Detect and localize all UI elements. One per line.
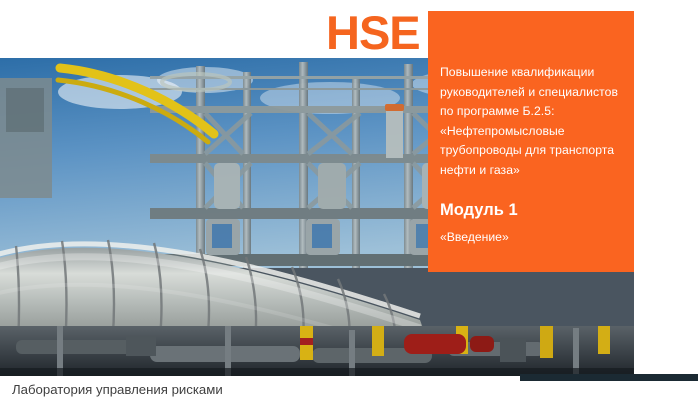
footer-rule <box>520 374 698 381</box>
course-title: Повышение квалификации руководителей и с… <box>440 63 620 180</box>
module-title: Модуль 1 <box>440 200 620 220</box>
presentation-slide: HSE Повышение квалификации руководителей… <box>0 0 698 412</box>
title-panel: Повышение квалификации руководителей и с… <box>428 11 634 272</box>
module-subtitle: «Введение» <box>440 228 620 246</box>
footer-caption: Лаборатория управления рисками <box>12 381 223 399</box>
hse-logo: HSE <box>326 8 420 58</box>
